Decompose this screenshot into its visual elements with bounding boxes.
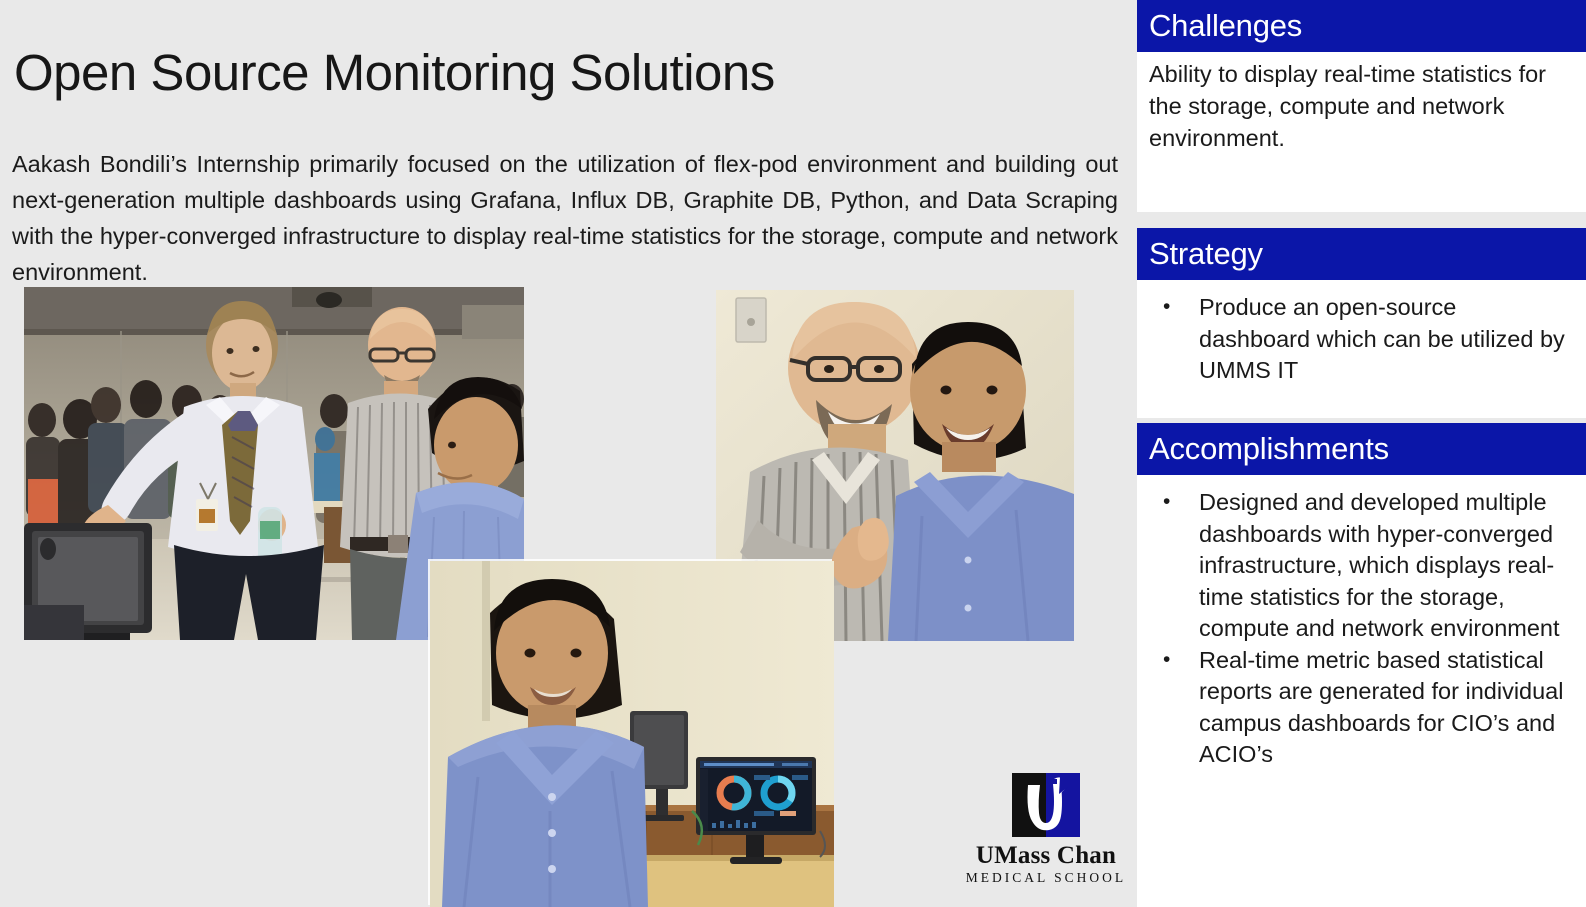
umass-chan-logo: UMass Chan MEDICAL SCHOOL [958, 773, 1134, 893]
list-item: Designed and developed multiple dashboar… [1163, 487, 1572, 645]
umass-logo-wordmark: UMass Chan [958, 843, 1134, 869]
list-item: Real-time metric based statistical repor… [1163, 645, 1572, 771]
umass-logo-mark [1010, 773, 1082, 837]
main-content-column: Open Source Monitoring Solutions Aakash … [0, 0, 1137, 907]
strategy-bullet-list: Produce an open-source dashboard which c… [1149, 292, 1572, 387]
intro-paragraph: Aakash Bondili’s Internship primarily fo… [12, 146, 1118, 290]
panel-accomplishments-header: Accomplishments [1137, 423, 1586, 475]
accomplishments-bullet-list: Designed and developed multiple dashboar… [1149, 487, 1572, 771]
panel-challenges-body: Ability to display real-time statistics … [1137, 52, 1586, 164]
challenges-text: Ability to display real-time statistics … [1149, 58, 1572, 154]
page-title: Open Source Monitoring Solutions [14, 46, 775, 100]
panel-strategy-header: Strategy [1137, 228, 1586, 280]
panel-strategy: Strategy Produce an open-source dashboar… [1137, 228, 1586, 418]
panel-challenges-header: Challenges [1137, 0, 1586, 52]
panel-challenges: Challenges Ability to display real-time … [1137, 0, 1586, 212]
sidebar: Challenges Ability to display real-time … [1137, 0, 1586, 907]
list-item: Produce an open-source dashboard which c… [1163, 292, 1572, 387]
panel-strategy-body: Produce an open-source dashboard which c… [1137, 280, 1586, 397]
poster-root: Open Source Monitoring Solutions Aakash … [0, 0, 1586, 907]
umass-logo-subwordmark: MEDICAL SCHOOL [958, 870, 1134, 886]
photo-dashboard [430, 561, 834, 907]
panel-accomplishments-body: Designed and developed multiple dashboar… [1137, 475, 1586, 781]
panel-accomplishments: Accomplishments Designed and developed m… [1137, 423, 1586, 907]
